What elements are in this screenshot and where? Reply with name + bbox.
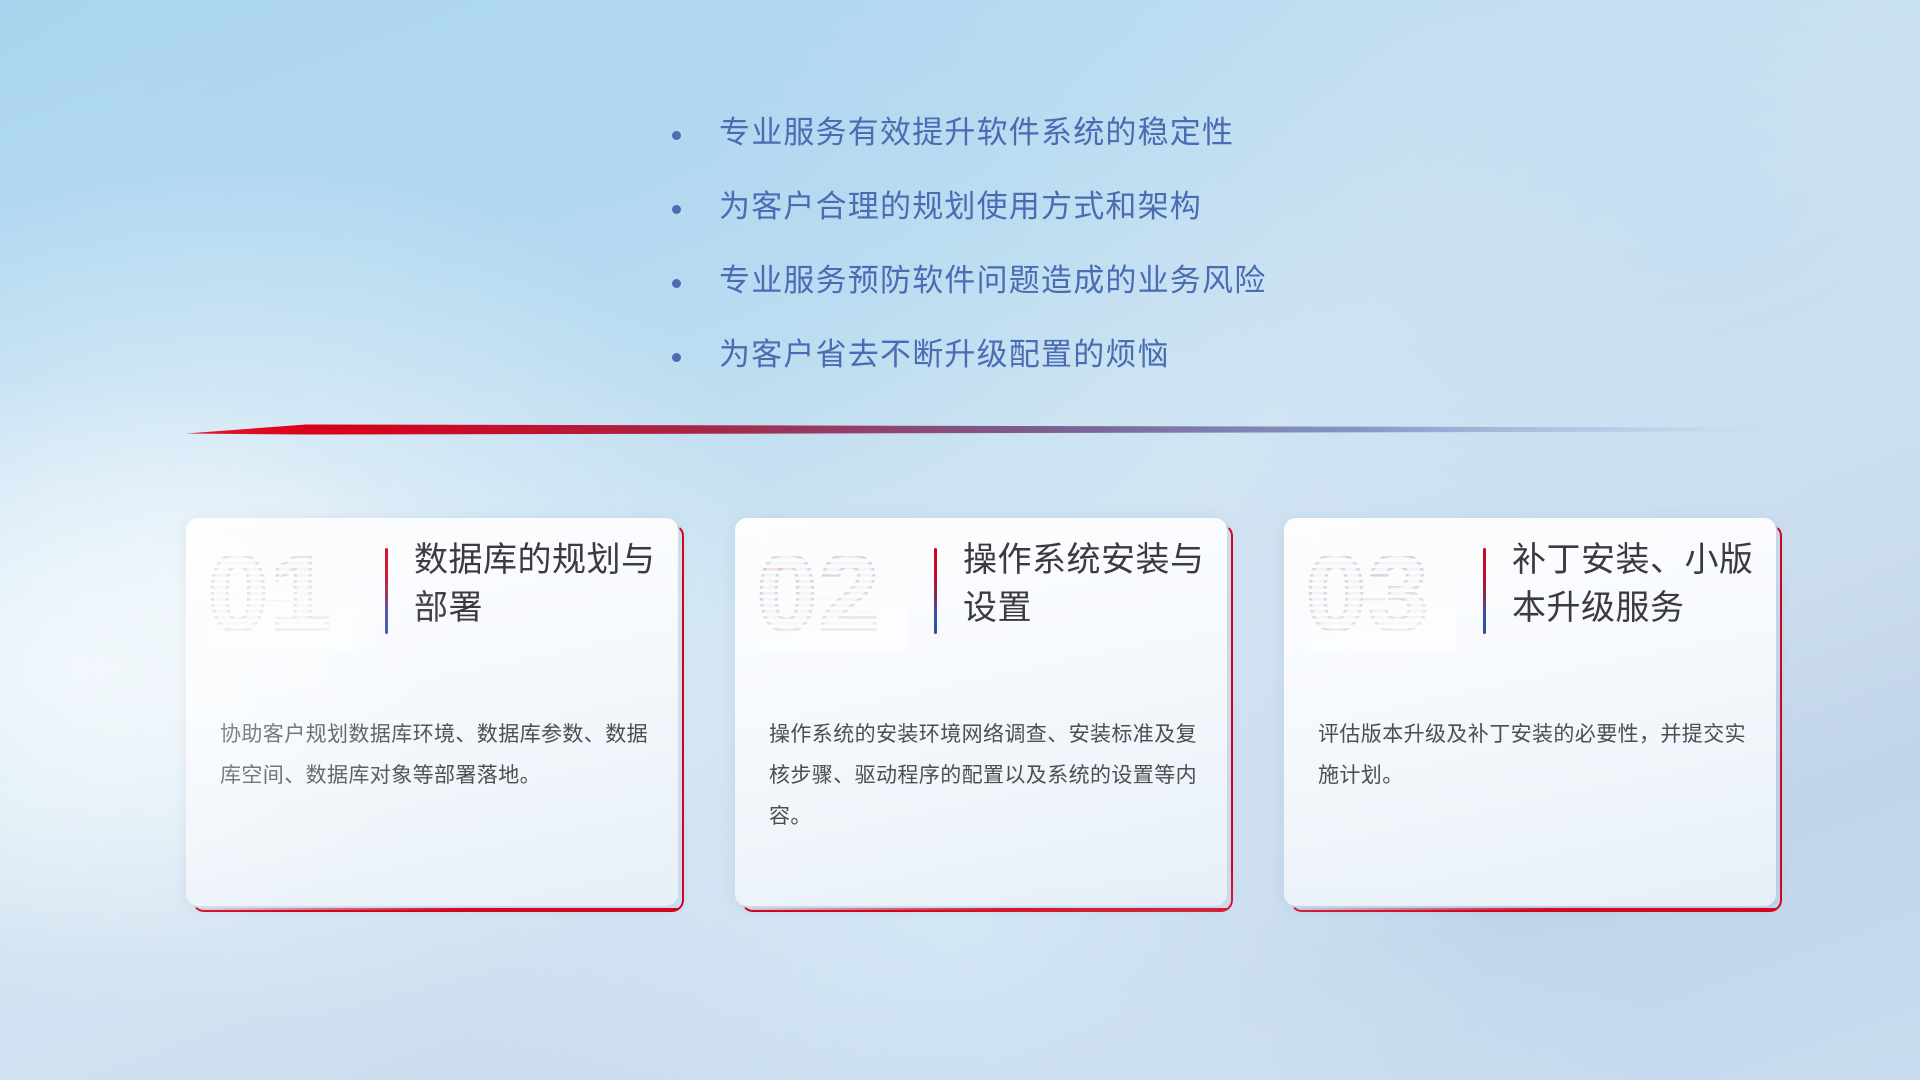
card-header: 02 02 操作系统安装与设置	[735, 518, 1227, 670]
card-title: 补丁安装、小版本升级服务	[1512, 536, 1762, 633]
list-item: 为客户省去不断升级配置的烦恼	[672, 334, 1572, 376]
benefits-bullet-list: 专业服务有效提升软件系统的稳定性 为客户合理的规划使用方式和架构 专业服务预防软…	[672, 112, 1572, 407]
card-number-striped-icon: 01 01	[208, 538, 358, 650]
card-panel: 03 03 补丁安装、小版本升级服务	[1284, 518, 1776, 906]
card-title-rule	[1483, 548, 1486, 634]
card-header: 03 03 补丁安装、小版本升级服务	[1284, 518, 1776, 670]
card-number-striped-icon: 03 03	[1306, 538, 1456, 650]
slide-canvas: 专业服务有效提升软件系统的稳定性 为客户合理的规划使用方式和架构 专业服务预防软…	[0, 0, 1920, 1080]
bullet-text: 专业服务有效提升软件系统的稳定性	[719, 112, 1234, 154]
card-title: 操作系统安装与设置	[963, 536, 1213, 633]
bullet-dot-icon	[672, 353, 681, 362]
service-card-row: 01 01 数据库的规划与部署	[186, 518, 1776, 906]
bullet-dot-icon	[672, 205, 681, 214]
card-panel: 02 02 操作系统安装与设置	[735, 518, 1227, 906]
bullet-text: 为客户合理的规划使用方式和架构	[719, 186, 1202, 228]
service-card[interactable]: 03 03 补丁安装、小版本升级服务	[1284, 518, 1776, 906]
card-title-rule	[385, 548, 388, 634]
card-title: 数据库的规划与部署	[414, 536, 664, 633]
card-title-rule	[934, 548, 937, 634]
card-header: 01 01 数据库的规划与部署	[186, 518, 678, 670]
bullet-dot-icon	[672, 279, 681, 288]
list-item: 专业服务有效提升软件系统的稳定性	[672, 112, 1572, 154]
bullet-dot-icon	[672, 131, 681, 140]
section-divider	[186, 420, 1772, 442]
service-card[interactable]: 01 01 数据库的规划与部署	[186, 518, 678, 906]
list-item: 为客户合理的规划使用方式和架构	[672, 186, 1572, 228]
card-description: 协助客户规划数据库环境、数据库参数、数据库空间、数据库对象等部署落地。	[220, 715, 650, 797]
card-panel: 01 01 数据库的规划与部署	[186, 518, 678, 906]
bullet-text: 专业服务预防软件问题造成的业务风险	[719, 260, 1266, 302]
list-item: 专业服务预防软件问题造成的业务风险	[672, 260, 1572, 302]
card-description: 操作系统的安装环境网络调查、安装标准及复核步骤、驱动程序的配置以及系统的设置等内…	[769, 715, 1199, 838]
card-description: 评估版本升级及补丁安装的必要性，并提交实施计划。	[1318, 715, 1748, 797]
service-card[interactable]: 02 02 操作系统安装与设置	[735, 518, 1227, 906]
bullet-text: 为客户省去不断升级配置的烦恼	[719, 334, 1170, 376]
card-number-striped-icon: 02 02	[757, 538, 907, 650]
